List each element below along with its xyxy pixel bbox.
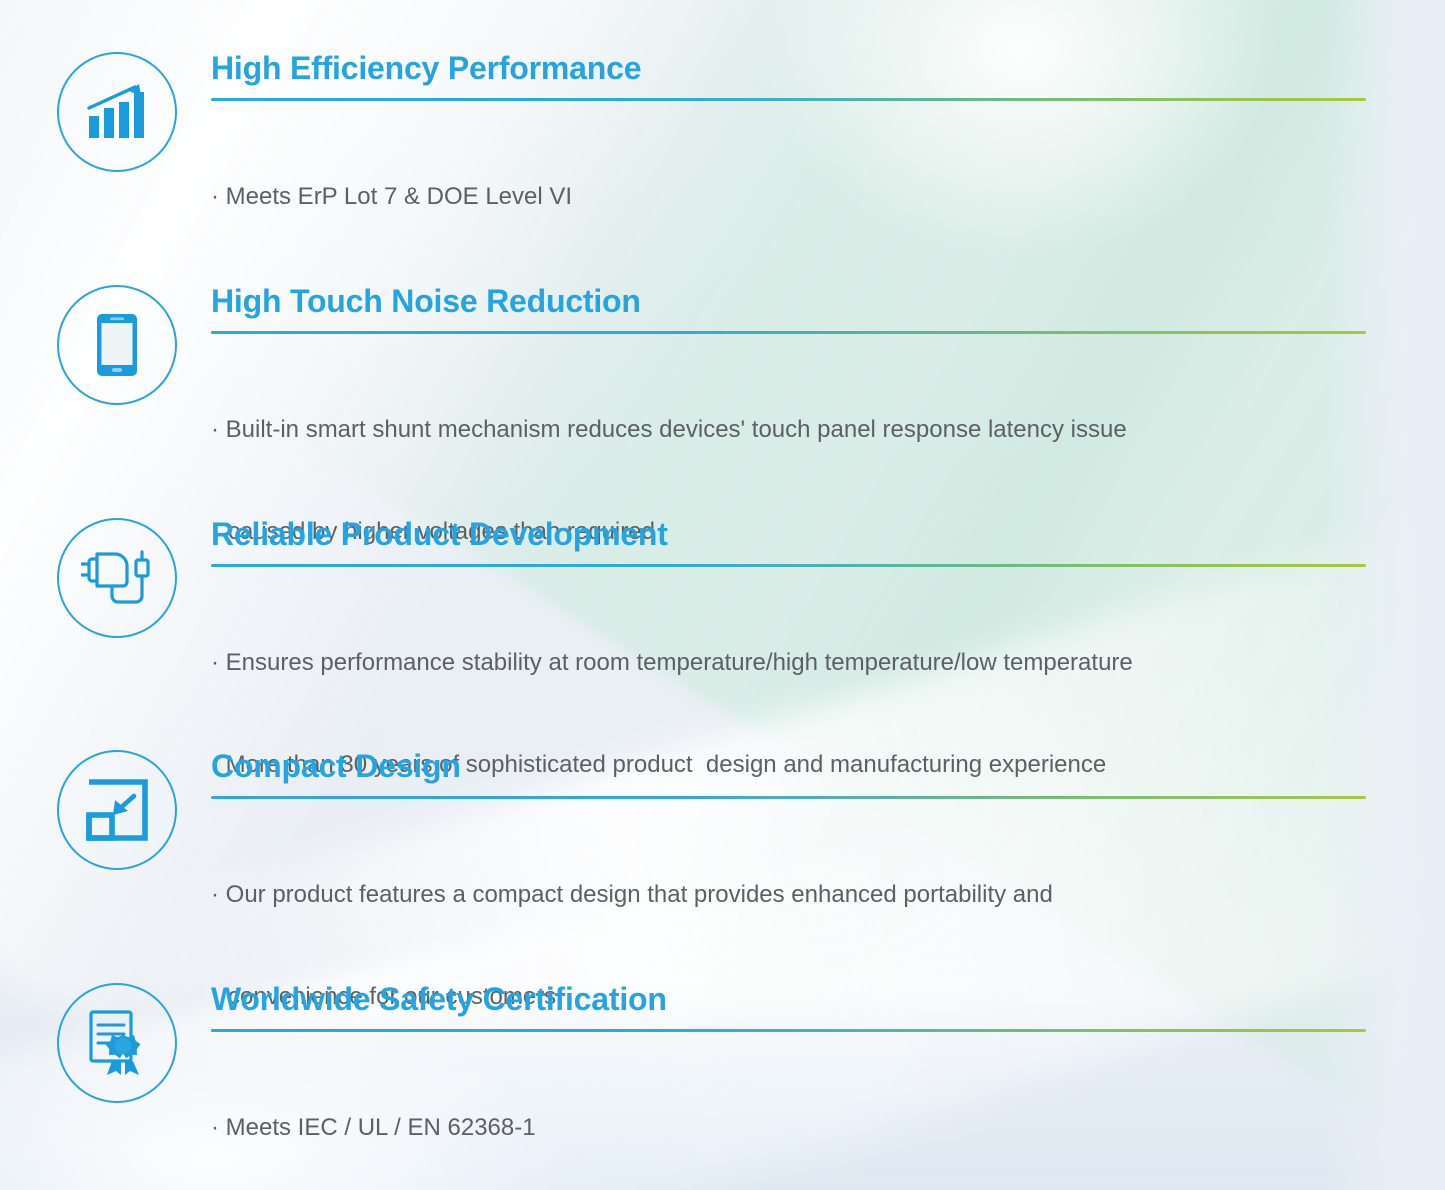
feature-divider (211, 331, 1366, 334)
bar-chart-growth-icon (57, 52, 177, 172)
feature-description-line: · Meets IEC / UL / EN 62368-1 (211, 1111, 1375, 1145)
feature-title: Compact Design (211, 750, 1375, 782)
feature-divider (211, 1029, 1366, 1032)
feature-content: High Efficiency Performance · Meets ErP … (211, 52, 1375, 282)
feature-description-line: · Ensures performance stability at room … (211, 646, 1375, 680)
feature-divider (211, 796, 1366, 799)
feature-title: High Efficiency Performance (211, 52, 1375, 84)
feature-description-line: · Our product features a compact design … (211, 878, 1375, 912)
power-adapter-icon (57, 518, 177, 638)
compact-resize-icon (57, 750, 177, 870)
feature-description-line: · Meets ErP Lot 7 & DOE Level VI (211, 180, 1375, 214)
feature-title: Reliable Product Development (211, 518, 1375, 550)
feature-description: · Meets ErP Lot 7 & DOE Level VI (211, 112, 1375, 282)
feature-divider (211, 564, 1366, 567)
certificate-award-icon (57, 983, 177, 1103)
feature-highlights-page: High Efficiency Performance · Meets ErP … (0, 0, 1445, 1190)
feature-content: Worldwide Safety Certification · Meets I… (211, 983, 1375, 1190)
feature-title: Worldwide Safety Certification (211, 983, 1375, 1015)
feature-divider (211, 98, 1366, 101)
feature-description-line: · Built-in smart shunt mechanism reduces… (211, 413, 1375, 447)
smartphone-icon (57, 285, 177, 405)
feature-title: High Touch Noise Reduction (211, 285, 1375, 317)
feature-description: · Meets IEC / UL / EN 62368-1 (211, 1043, 1375, 1190)
